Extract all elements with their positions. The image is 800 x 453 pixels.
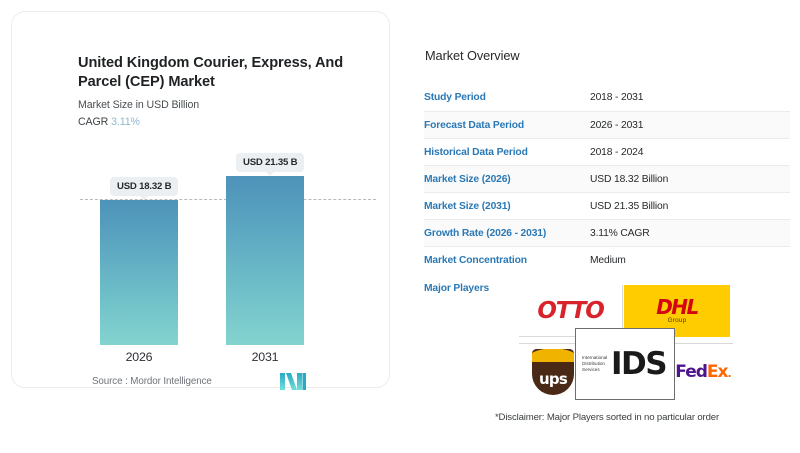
market-overview-heading: Market Overview	[425, 48, 520, 63]
otto-logo-text: OTTO	[537, 298, 603, 324]
table-row: Historical Data Period 2018 - 2024	[424, 138, 790, 165]
row-value: USD 21.35 Billion	[590, 201, 668, 212]
row-label: Study Period	[424, 92, 590, 103]
table-row: Market Size (2026) USD 18.32 Billion	[424, 165, 790, 192]
row-value: 2026 - 2031	[590, 120, 643, 131]
major-players-label: Major Players	[424, 283, 489, 294]
bar-2026	[100, 200, 178, 345]
bar-chart-plot: USD 18.32 B USD 21.35 B 2026 2031	[12, 12, 391, 389]
ups-logo-text: ups	[532, 370, 574, 388]
major-players-logos: OTTO DHL Group ups International Distrib…	[513, 281, 735, 403]
table-row: Study Period 2018 - 2031	[424, 84, 790, 111]
bar-2031	[226, 176, 304, 345]
row-value: 3.11% CAGR	[590, 228, 650, 239]
dhl-logo-subtext: Group	[668, 317, 687, 324]
x-axis-tick-2026: 2026	[100, 350, 178, 364]
market-overview-table: Study Period 2018 - 2031 Forecast Data P…	[424, 84, 790, 273]
ids-logo-text: IDS	[611, 346, 666, 382]
table-row: Growth Rate (2026 - 2031) 3.11% CAGR	[424, 219, 790, 246]
row-label: Forecast Data Period	[424, 120, 590, 131]
row-value: 2018 - 2031	[590, 92, 643, 103]
bar-value-label-2031: USD 21.35 B	[236, 153, 304, 172]
fedex-logo-text: FedEx.	[675, 362, 730, 382]
row-value: USD 18.32 Billion	[590, 174, 668, 185]
row-label: Market Size (2031)	[424, 201, 590, 212]
table-row: Market Size (2031) USD 21.35 Billion	[424, 192, 790, 219]
x-axis-tick-2031: 2031	[226, 350, 304, 364]
fedex-logo: FedEx.	[673, 343, 733, 399]
mordor-intelligence-logo	[280, 373, 306, 395]
ids-logo-subtext: International Distribution Services	[582, 355, 609, 373]
table-row: Forecast Data Period 2026 - 2031	[424, 111, 790, 138]
source-text: Source : Mordor Intelligence	[92, 376, 212, 387]
table-row: Market Concentration Medium	[424, 246, 790, 273]
row-label: Historical Data Period	[424, 147, 590, 158]
row-label: Market Concentration	[424, 255, 590, 266]
row-value: 2018 - 2024	[590, 147, 643, 158]
dhl-logo-text: DHL	[656, 298, 698, 316]
row-value: Medium	[590, 255, 626, 266]
infographic-root: United Kingdom Courier, Express, And Par…	[0, 0, 800, 453]
bar-value-label-2026: USD 18.32 B	[110, 177, 178, 196]
fedex-logo-ex: Ex	[707, 362, 728, 382]
row-label: Growth Rate (2026 - 2031)	[424, 228, 590, 239]
chart-card: United Kingdom Courier, Express, And Par…	[11, 11, 390, 388]
row-label: Market Size (2026)	[424, 174, 590, 185]
ids-logo: International Distribution Services IDS	[575, 328, 675, 400]
fedex-logo-dot: .	[728, 367, 731, 380]
fedex-logo-fed: Fed	[675, 362, 707, 382]
ups-shield-icon: ups	[532, 349, 574, 395]
disclaimer-text: *Disclaimer: Major Players sorted in no …	[424, 412, 790, 423]
